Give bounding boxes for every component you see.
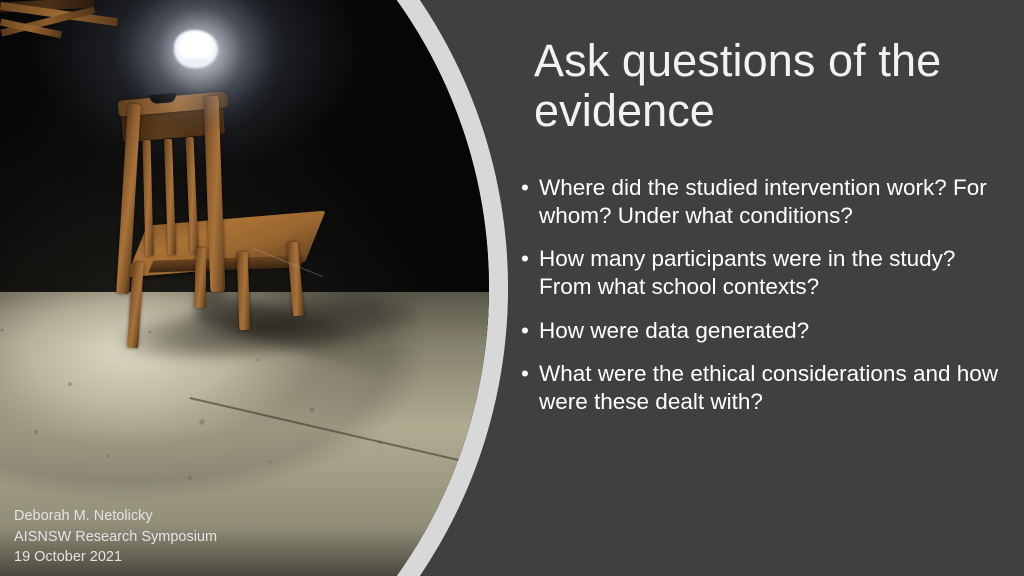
slide-title: Ask questions of the evidence [534, 36, 994, 137]
bullet-item-1: • Where did the studied intervention wor… [518, 174, 998, 230]
bullet-item-2: • How many participants were in the stud… [518, 245, 998, 301]
chair-leg-back-left [194, 248, 206, 308]
bullet-marker-icon: • [521, 174, 529, 202]
photo-image-area [0, 0, 489, 576]
bullet-text-3: How were data generated? [539, 318, 809, 343]
bullet-text-4: What were the ethical considerations and… [539, 361, 998, 414]
footer-date: 19 October 2021 [14, 547, 217, 568]
footer-event: AISNSW Research Symposium [14, 527, 217, 548]
bullet-marker-icon: • [521, 245, 529, 273]
chair-spindle-1 [142, 140, 153, 256]
slide-bullet-list: • Where did the studied intervention wor… [518, 174, 998, 416]
presentation-slide: Ask questions of the evidence • Where di… [0, 0, 1024, 576]
slide-photo [0, 0, 508, 576]
slide-footer: Deborah M. Netolicky AISNSW Research Sym… [14, 506, 217, 568]
bullet-text-1: Where did the studied intervention work?… [539, 175, 987, 228]
photo-scene [0, 0, 489, 576]
bullet-item-3: • How were data generated? [518, 317, 998, 345]
bullet-marker-icon: • [521, 360, 529, 388]
lamp-base [182, 58, 208, 66]
footer-presenter: Deborah M. Netolicky [14, 506, 217, 527]
bullet-item-4: • What were the ethical considerations a… [518, 360, 998, 416]
bullet-text-2: How many participants were in the study?… [539, 246, 955, 299]
bullet-marker-icon: • [521, 317, 529, 345]
